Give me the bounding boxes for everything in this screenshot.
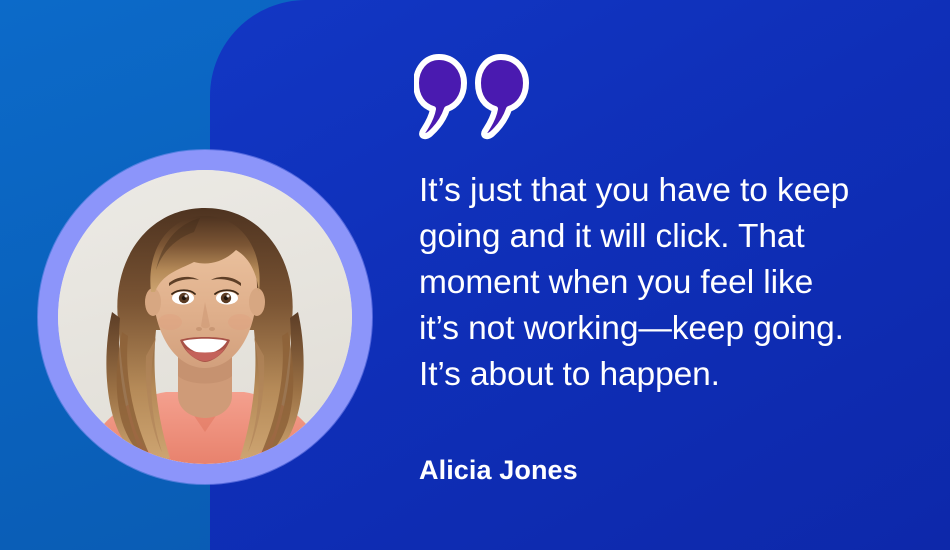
quote-line: going and it will click. That: [419, 214, 899, 260]
quote-line: moment when you feel like: [419, 260, 899, 306]
quote-line: It’s about to happen.: [419, 352, 899, 398]
portrait-photo: [58, 170, 352, 464]
double-quote-icon: [414, 52, 530, 142]
quote-line: It’s just that you have to keep: [419, 168, 899, 214]
avatar: [58, 170, 352, 464]
attribution-name: Alicia Jones: [419, 452, 578, 488]
quote-text: It’s just that you have to keep going an…: [419, 168, 899, 398]
quote-line: it’s not working—keep going.: [419, 306, 899, 352]
avatar-ring: [38, 150, 372, 484]
testimonial-card: It’s just that you have to keep going an…: [0, 0, 950, 550]
